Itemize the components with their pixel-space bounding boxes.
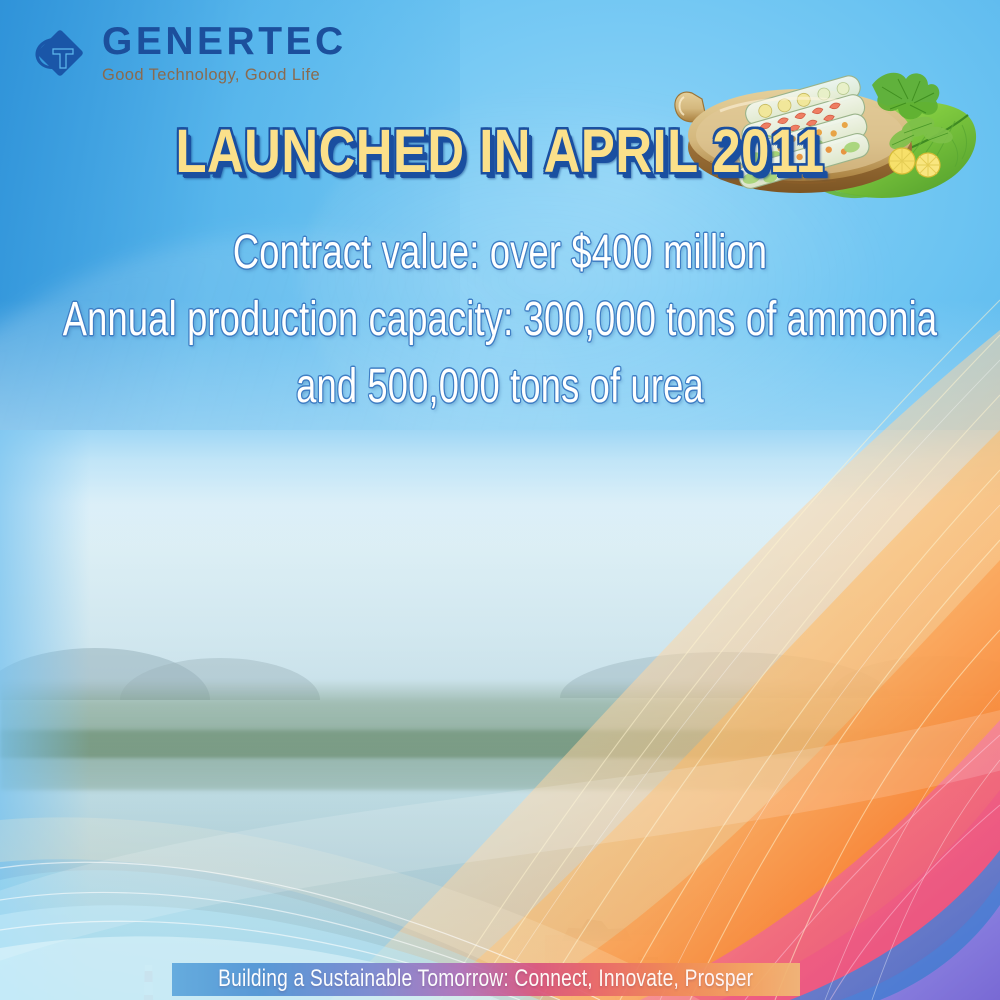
body-line: Contract value: over $400 million — [44, 220, 955, 286]
genertec-logo[interactable]: GENERTEC Good Technology, Good Life — [32, 22, 347, 84]
page-title: LAUNCHED IN APRIL 2011 — [0, 126, 1000, 180]
logo-tagline: Good Technology, Good Life — [102, 67, 347, 84]
factory-photo — [0, 430, 1000, 1000]
body-copy: Contract value: over $400 million Annual… — [10, 218, 990, 427]
footer-tagline: Building a Sustainable Tomorrow: Connect… — [218, 965, 753, 993]
body-line: and 500,000 tons of urea — [44, 354, 955, 420]
promotional-poster: GENERTEC Good Technology, Good Life — [0, 0, 1000, 1000]
body-line: Annual production capacity: 300,000 tons… — [44, 287, 955, 353]
logo-wordmark: GENERTEC — [102, 22, 347, 61]
footer-banner: Building a Sustainable Tomorrow: Connect… — [172, 963, 800, 996]
photo-top-fade — [0, 430, 1000, 538]
photo-left-fade — [0, 430, 90, 1000]
headline-text: LAUNCHED IN APRIL 2011 — [175, 121, 824, 182]
genertec-diamond-gt-logo-icon — [32, 25, 88, 81]
